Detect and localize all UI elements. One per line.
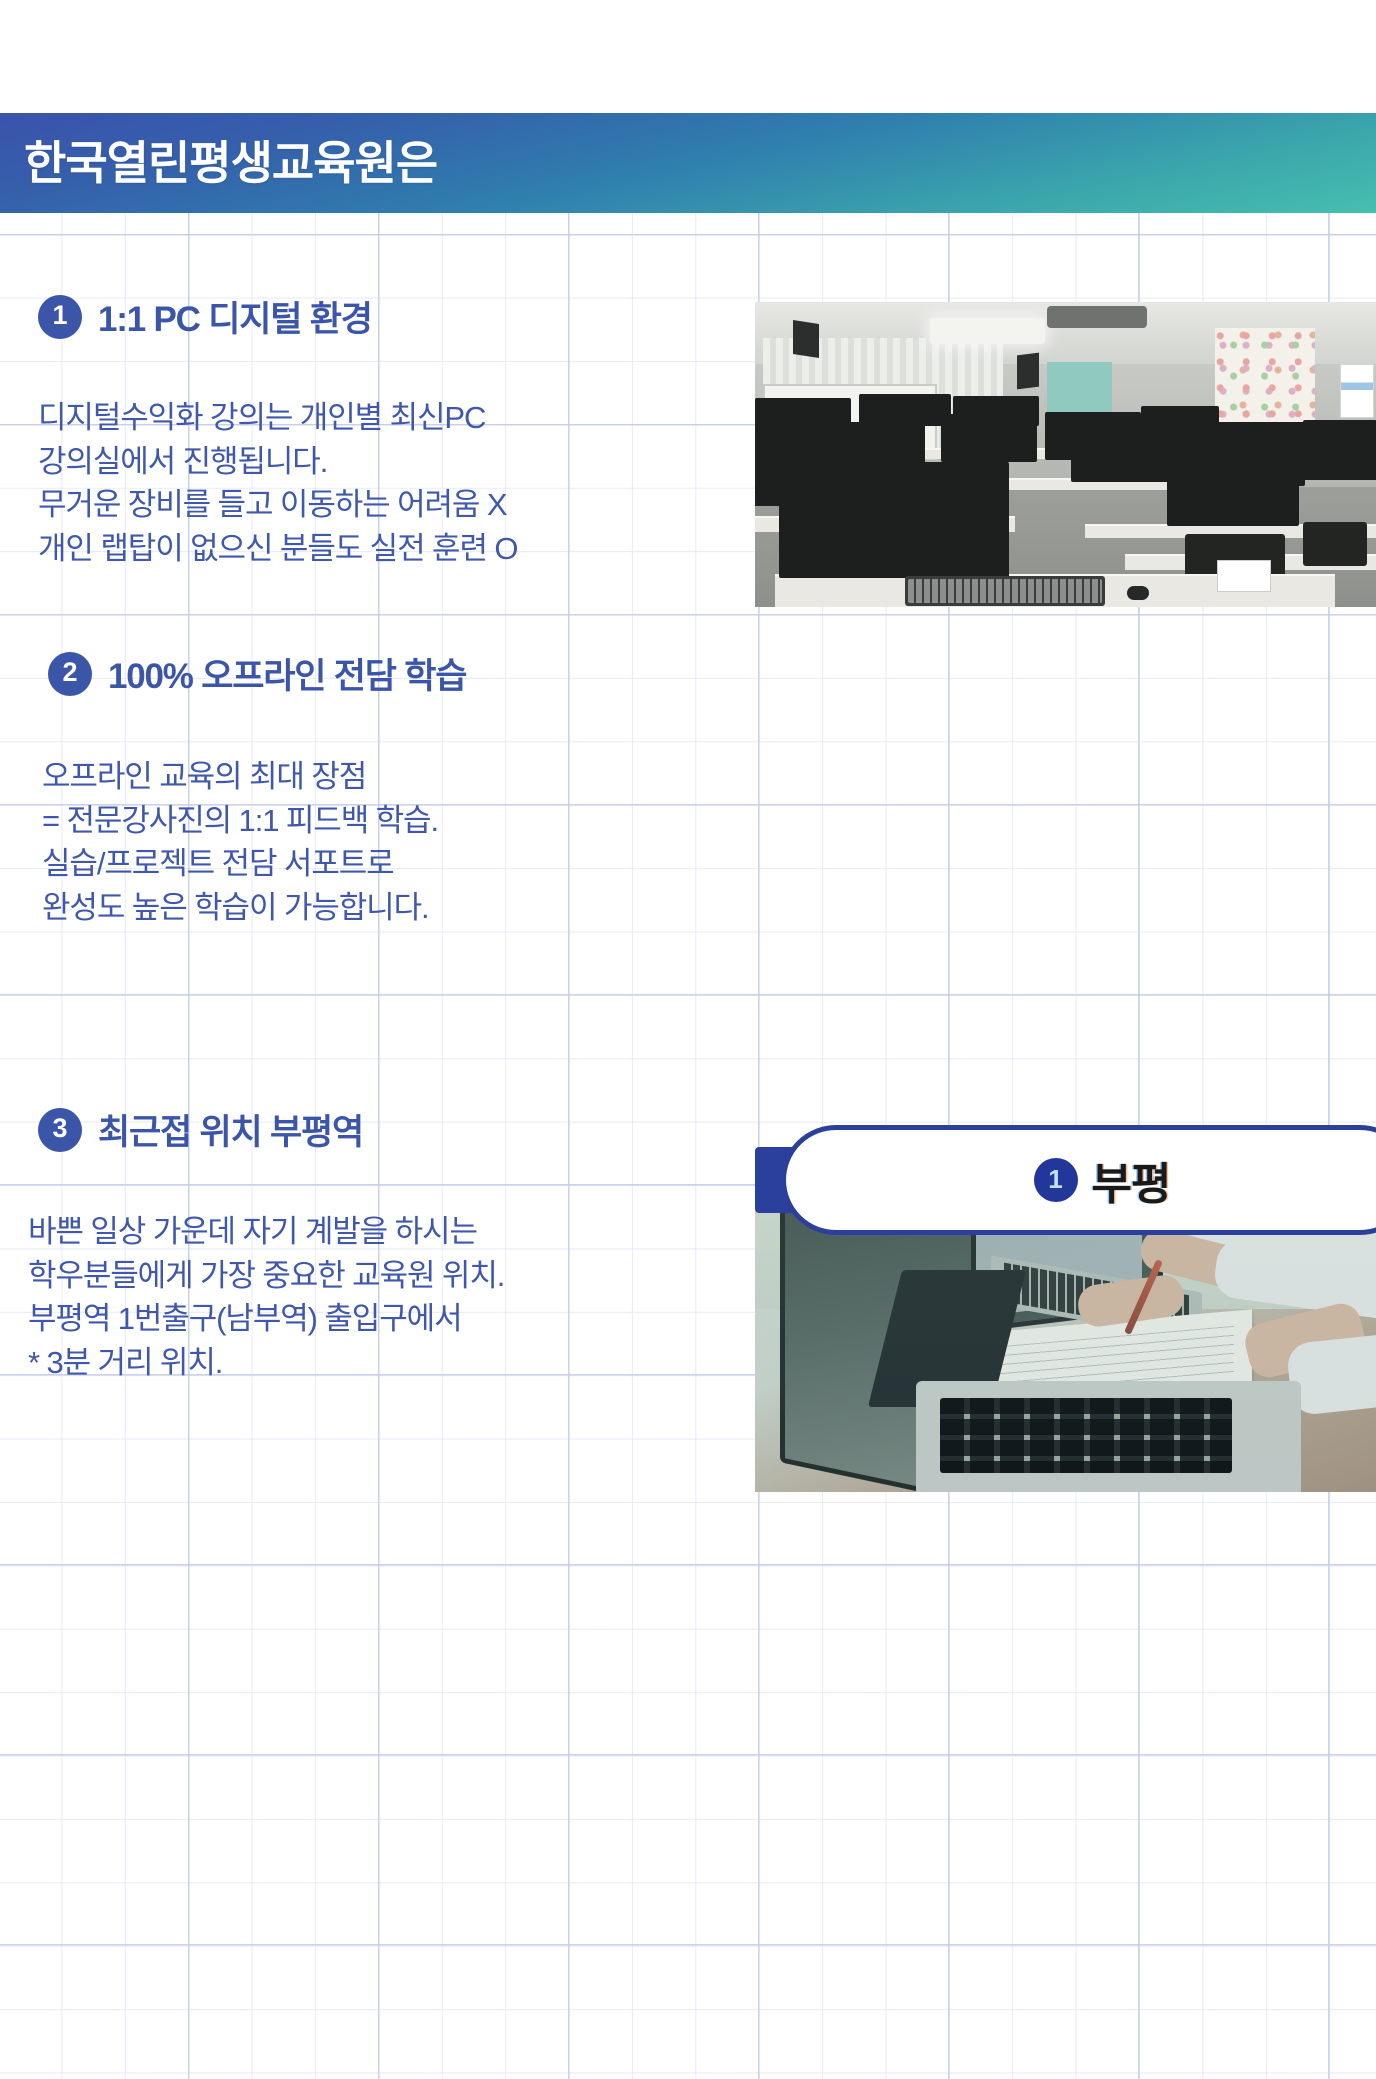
- section-1-text: 1 1:1 PC 디지털 환경 디지털수익화 강의는 개인별 최신PC 강의실에…: [0, 213, 798, 571]
- section-2-heading: 100% 오프라인 전담 학습: [108, 648, 466, 699]
- section-2-text: 2 100% 오프라인 전담 학습 오프라인 교육의 최대 장점 = 전문강사진…: [0, 613, 808, 930]
- section-1-body: 디지털수익화 강의는 개인별 최신PC 강의실에서 진행됩니다. 무거운 장비를…: [38, 396, 798, 571]
- section-1-body-line-2: 강의실에서 진행됩니다.: [38, 440, 798, 484]
- section-2-body-line-3: 실습/프로젝트 전담 서포트로: [42, 842, 808, 886]
- section-2-number-badge: 2: [48, 652, 92, 696]
- station-sign: 1 부평: [755, 1125, 1376, 1235]
- section-1-heading-row: 1 1:1 PC 디지털 환경: [38, 291, 798, 342]
- top-white-strip: [0, 0, 1376, 113]
- section-2-body-line-1: 오프라인 교육의 최대 장점: [42, 755, 808, 799]
- station-sign-body: 1 부평: [781, 1125, 1376, 1235]
- section-3: 3 최근접 위치 부평역 바쁜 일상 가운데 자기 계발을 하시는 학우분들에게…: [0, 1073, 1376, 1543]
- section-3-body-line-2: 학우분들에게 가장 중요한 교육원 위치.: [28, 1254, 798, 1298]
- section-1-number-badge: 1: [38, 295, 82, 339]
- section-2-body-line-2: = 전문강사진의 1:1 피드백 학습.: [42, 799, 808, 843]
- section-2-body: 오프라인 교육의 최대 장점 = 전문강사진의 1:1 피드백 학습. 실습/프…: [42, 755, 808, 930]
- section-2-body-line-4: 완성도 높은 학습이 가능합니다.: [42, 886, 808, 930]
- section-1-body-line-3: 무거운 장비를 들고 이동하는 어려움 X: [38, 483, 798, 527]
- classroom-photo: [755, 302, 1376, 607]
- subway-line-badge: 1: [1034, 1158, 1078, 1202]
- section-1-body-line-1: 디지털수익화 강의는 개인별 최신PC: [38, 396, 798, 440]
- section-3-heading: 최근접 위치 부평역: [98, 1104, 363, 1155]
- section-3-body: 바쁜 일상 가운데 자기 계발을 하시는 학우분들에게 가장 중요한 교육원 위…: [28, 1210, 798, 1385]
- station-name: 부평: [1092, 1148, 1171, 1212]
- page-title: 한국열린평생교육원은: [24, 140, 437, 186]
- header-banner: 한국열린평생교육원은: [0, 113, 1376, 213]
- section-1: 1 1:1 PC 디지털 환경 디지털수익화 강의는 개인별 최신PC 강의실에…: [0, 213, 1376, 613]
- section-2-heading-row: 2 100% 오프라인 전담 학습: [48, 648, 808, 699]
- section-3-heading-row: 3 최근접 위치 부평역: [38, 1104, 798, 1155]
- section-3-number-badge: 3: [38, 1108, 82, 1152]
- section-2: 2 100% 오프라인 전담 학습 오프라인 교육의 최대 장점 = 전문강사진…: [0, 613, 1376, 1073]
- section-1-body-line-4: 개인 랩탑이 없으신 분들도 실전 훈련 O: [38, 527, 798, 571]
- section-1-heading: 1:1 PC 디지털 환경: [98, 291, 372, 342]
- section-3-body-line-4: * 3분 거리 위치.: [28, 1341, 798, 1385]
- section-3-body-line-1: 바쁜 일상 가운데 자기 계발을 하시는: [28, 1210, 798, 1254]
- section-3-text: 3 최근접 위치 부평역 바쁜 일상 가운데 자기 계발을 하시는 학우분들에게…: [0, 1073, 798, 1385]
- section-3-body-line-3: 부평역 1번출구(남부역) 출입구에서: [28, 1297, 798, 1341]
- content-area: 1 1:1 PC 디지털 환경 디지털수익화 강의는 개인별 최신PC 강의실에…: [0, 213, 1376, 1543]
